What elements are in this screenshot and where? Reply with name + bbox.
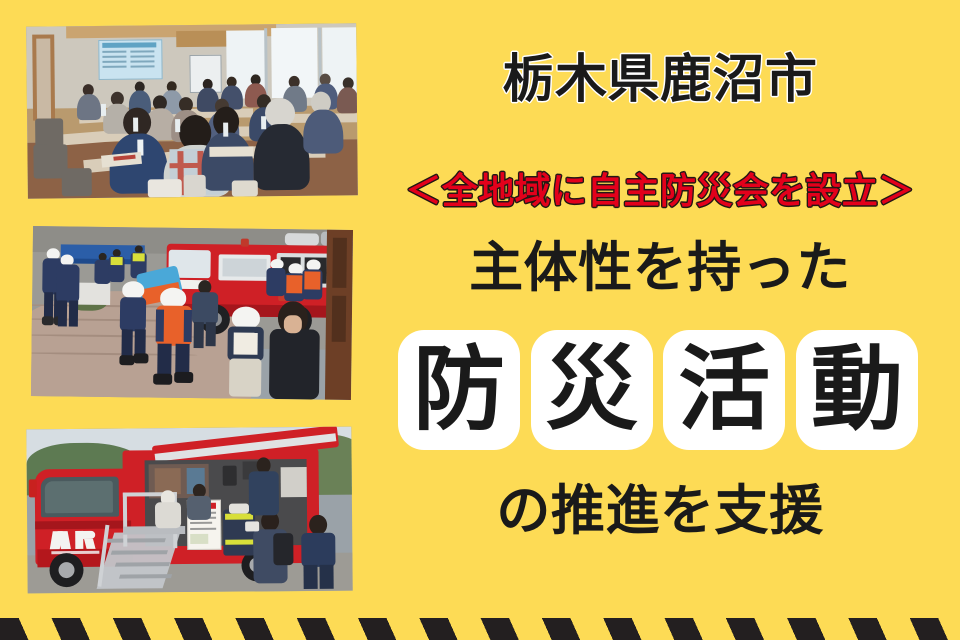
- boxed-char-2: 災: [531, 330, 653, 450]
- boxed-char-3: 活: [663, 330, 785, 450]
- vr-disaster-truck-photo: [26, 427, 352, 594]
- boxed-char-1: 防: [398, 330, 520, 450]
- headline-tail: の推進を支援: [380, 478, 940, 544]
- seminar-room-photo: [26, 23, 358, 198]
- boxed-keyword-row: 防 災 活 動: [398, 330, 918, 450]
- hazard-stripe-footer: [0, 618, 960, 640]
- headline-subject: 主体性を持った: [380, 235, 940, 301]
- subtitle-bracket: ＜全地域に自主防災会を設立＞: [380, 170, 940, 214]
- evacuation-drill-photo: [31, 226, 353, 400]
- poster-canvas: 栃木県鹿沼市 ＜全地域に自主防災会を設立＞ 主体性を持った 防 災 活 動 の推…: [0, 0, 960, 640]
- page-title-city: 栃木県鹿沼市: [380, 50, 940, 110]
- boxed-char-4: 動: [796, 330, 918, 450]
